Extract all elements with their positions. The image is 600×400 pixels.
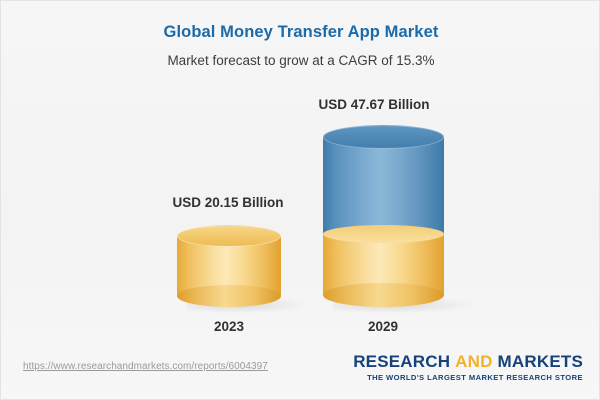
bar-foot-2029 — [323, 283, 444, 307]
logo-word-and-text: AND — [455, 352, 492, 371]
bar-cap-2029 — [323, 125, 444, 149]
logo-word-markets: MARKETS — [498, 352, 583, 371]
bar-foot-2023 — [177, 285, 281, 307]
value-label-2023: USD 20.15 Billion — [118, 195, 338, 210]
bar-cylinder-2023[interactable] — [177, 225, 281, 307]
bar-body-2029 — [323, 137, 444, 295]
bar-segment-blue-2029 — [323, 137, 444, 234]
research-and-markets-logo[interactable]: RESEARCH AND MARKETS THE WORLD'S LARGEST… — [353, 353, 583, 382]
bar-cap-2023 — [177, 225, 281, 247]
logo-word-research: RESEARCH — [353, 352, 450, 371]
bar-cylinder-2029[interactable] — [323, 125, 444, 307]
value-label-2029: USD 47.67 Billion — [264, 97, 484, 112]
footer: https://www.researchandmarkets.com/repor… — [1, 347, 600, 399]
x-axis-label-2029: 2029 — [273, 319, 493, 334]
bar-seam-2029 — [323, 225, 444, 243]
logo-wordmark: RESEARCH AND MARKETS — [353, 353, 583, 371]
logo-tagline: THE WORLD'S LARGEST MARKET RESEARCH STOR… — [353, 373, 583, 382]
report-url-link[interactable]: https://www.researchandmarkets.com/repor… — [23, 361, 268, 372]
plot-area: USD 20.15 Billion 2023 USD 47.67 Billion — [1, 1, 600, 346]
chart-card: Global Money Transfer App Market Market … — [0, 0, 600, 400]
